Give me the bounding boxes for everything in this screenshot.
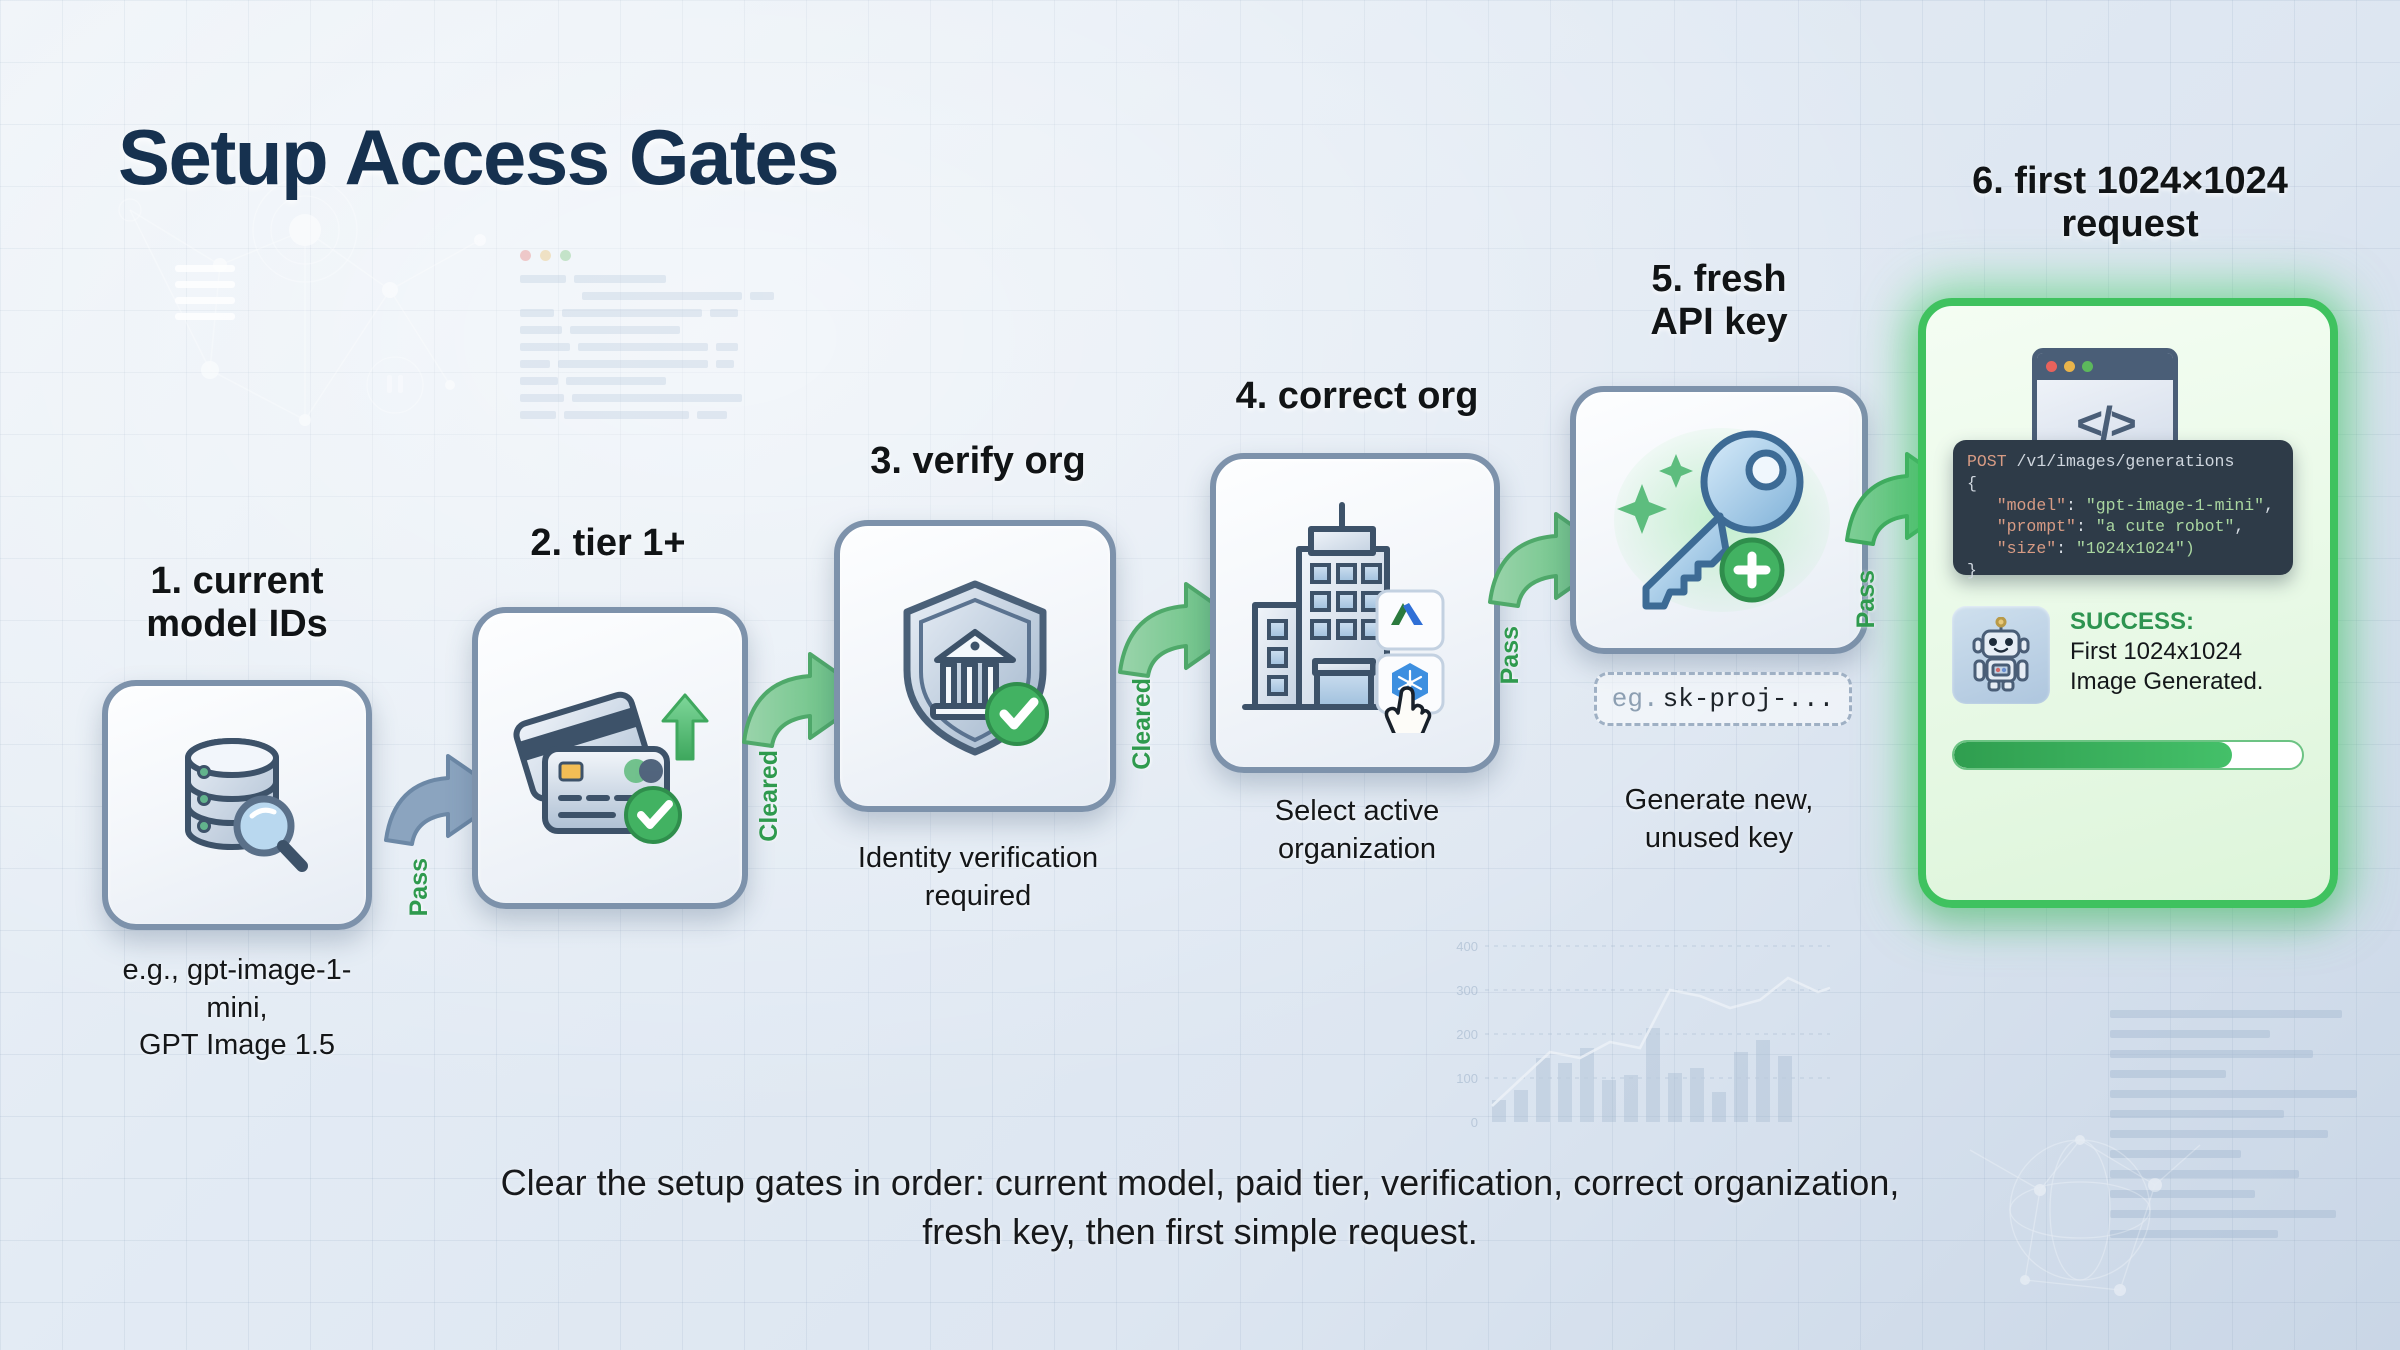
step-4-label: 4. correct org [1192,375,1522,418]
code-size-value: "1024x1024") [2076,539,2195,558]
edge-label-5: Pass [1852,570,1881,628]
progress-bar-fill [1954,742,2232,768]
code-size-key: "size" [1997,539,2056,558]
progress-bar [1952,740,2304,770]
success-body: First 1024x1024Image Generated. [2070,637,2310,697]
api-key-prefix: eg. [1612,684,1659,714]
shield-institution-verified-icon [875,566,1075,766]
step-5-label: 5. freshAPI key [1556,258,1882,345]
step-3-label: 3. verify org [818,440,1138,483]
code-prompt-value: "a cute robot" [2096,517,2235,536]
svg-text:200: 200 [1456,1027,1478,1042]
step-6-label: 6. first 1024×1024request [1900,160,2360,247]
credit-cards-upgrade-icon [505,663,715,853]
database-search-icon [152,720,322,890]
edge-label-3: Cleared [1128,678,1157,770]
step-5-card[interactable] [1570,386,1868,654]
browser-titlebar [2037,353,2173,380]
robot-icon [1952,606,2050,704]
org-badge-acme [1377,591,1443,649]
menu-lines-decoration [175,265,235,329]
code-prompt-key: "prompt" [1997,517,2076,536]
code-method: POST [1967,452,2007,471]
step-1-card[interactable] [102,680,372,930]
edge-label-2: Cleared [755,750,784,842]
code-model-key: "model" [1997,496,2066,515]
code-open-brace: { [1967,474,1977,493]
step-3-caption: Identity verificationrequired [818,840,1138,915]
office-building-org-picker-icon [1235,493,1475,733]
svg-text:0: 0 [1471,1115,1478,1130]
code-close-brace: } [1967,561,1977,580]
code-window-decoration [520,250,820,480]
edge-label-4: Pass [1496,626,1525,684]
step-2-label: 2. tier 1+ [458,522,758,565]
network-graph-decoration [90,170,520,500]
chart-decoration: 400300 200100 0 [1430,930,1850,1160]
api-key-value: sk-proj-... [1663,684,1835,714]
api-key-example-field[interactable]: eg. sk-proj-... [1594,672,1852,726]
document-lines-decoration [2110,1010,2400,1300]
svg-text:300: 300 [1456,983,1478,998]
summary-text: Clear the setup gates in order: current … [500,1158,1900,1257]
step-1-label: 1. currentmodel IDs [92,560,382,647]
step-1-caption: e.g., gpt-image-1-mini,GPT Image 1.5 [92,952,382,1065]
step-4-caption: Select activeorganization [1192,793,1522,868]
step-4-card[interactable] [1210,453,1500,773]
key-sparkle-plus-icon [1604,420,1834,620]
globe-network-decoration [1930,1090,2230,1340]
code-model-value: "gpt-image-1-mini" [2086,496,2264,515]
edge-label-1: Pass [405,858,434,916]
success-message: SUCCESS: First 1024x1024Image Generated. [2070,608,2310,696]
step-3-card[interactable] [834,520,1116,812]
step-2-card[interactable] [472,607,748,909]
svg-text:400: 400 [1456,939,1478,954]
code-path: /v1/images/generations [2017,452,2235,471]
page-title: Setup Access Gates [118,112,838,203]
svg-text:100: 100 [1456,1071,1478,1086]
success-title: SUCCESS: [2070,608,2310,637]
request-code-block: POST /v1/images/generations { "model": "… [1953,440,2293,575]
step-5-caption: Generate new,unused key [1556,782,1882,857]
